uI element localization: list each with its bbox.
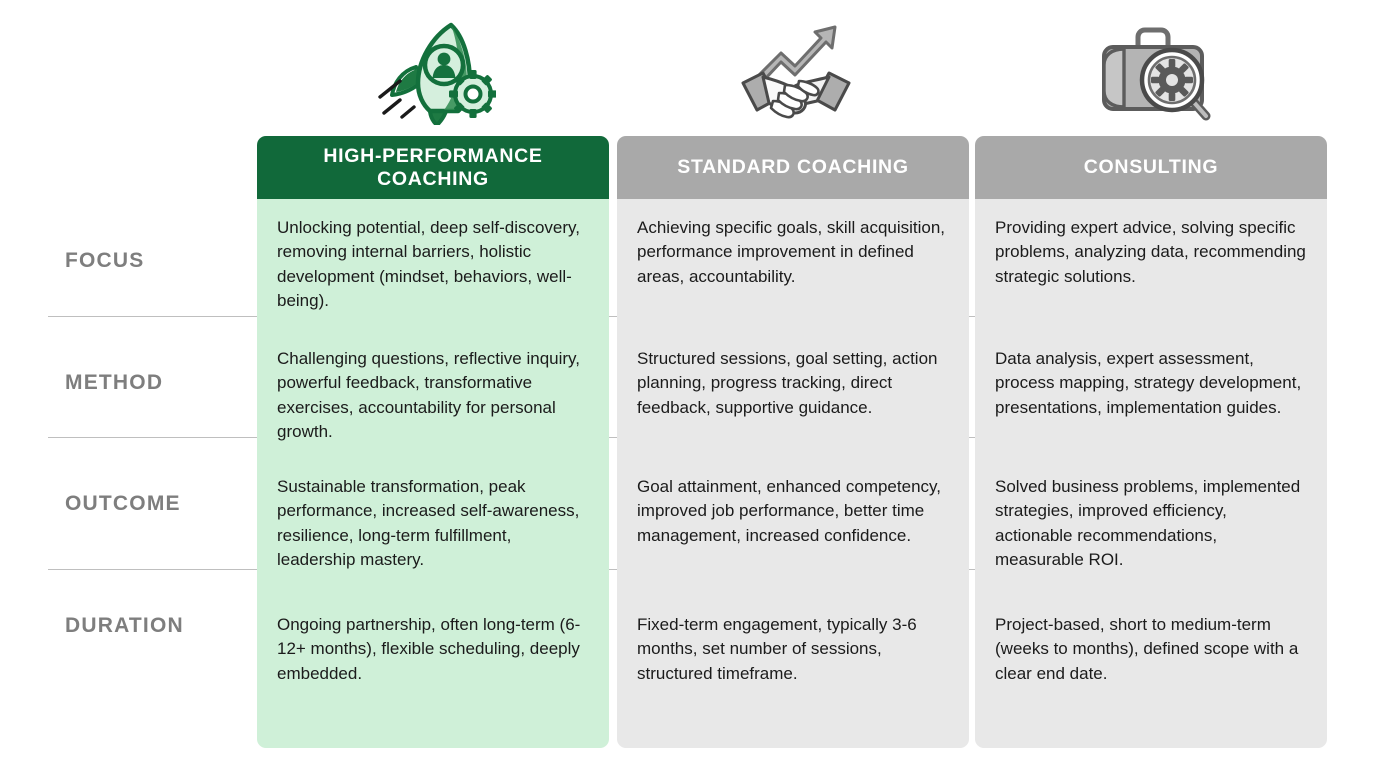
rocket-person-gear-icon: [372, 18, 502, 128]
cell-outcome-consulting: Solved business problems, implemented st…: [975, 458, 1327, 589]
column-header-line-1: HIGH-PERFORMANCE: [323, 145, 542, 167]
cell-outcome-high-performance-coaching: Sustainable transformation, peak perform…: [257, 458, 609, 589]
row-label-focus: FOCUS: [65, 249, 255, 273]
cell-method-standard-coaching: Structured sessions, goal setting, actio…: [617, 330, 969, 458]
column-header-standard-coaching: STANDARD COACHING: [617, 136, 969, 199]
cell-duration-consulting: Project-based, short to medium-term (wee…: [975, 589, 1327, 748]
column-header-line-2: COACHING: [377, 168, 489, 190]
column-consulting: CONSULTING Providing expert advice, solv…: [975, 136, 1327, 748]
column-high-performance-coaching: HIGH-PERFORMANCE COACHING Unlocking pote…: [257, 136, 609, 748]
row-label-method: METHOD: [65, 371, 255, 395]
comparison-table-infographic: FOCUS METHOD OUTCOME DURATION HIGH-PERFO…: [0, 0, 1376, 768]
cell-outcome-standard-coaching: Goal attainment, enhanced competency, im…: [617, 458, 969, 589]
briefcase-magnifier-gear-icon: [1088, 18, 1218, 128]
column-body-high-performance-coaching: Unlocking potential, deep self-discovery…: [257, 199, 609, 748]
column-header-consulting: CONSULTING: [975, 136, 1327, 199]
column-header-high-performance-coaching: HIGH-PERFORMANCE COACHING: [257, 136, 609, 199]
handshake-growth-arrow-icon: [731, 18, 861, 128]
column-standard-coaching: STANDARD COACHING Achieving specific goa…: [617, 136, 969, 748]
cell-method-consulting: Data analysis, expert assessment, proces…: [975, 330, 1327, 458]
cell-method-high-performance-coaching: Challenging questions, reflective inquir…: [257, 330, 609, 458]
column-body-consulting: Providing expert advice, solving specifi…: [975, 199, 1327, 748]
cell-focus-high-performance-coaching: Unlocking potential, deep self-discovery…: [257, 199, 609, 330]
cell-focus-standard-coaching: Achieving specific goals, skill acquisit…: [617, 199, 969, 330]
column-body-standard-coaching: Achieving specific goals, skill acquisit…: [617, 199, 969, 748]
row-label-duration: DURATION: [65, 614, 255, 638]
cell-duration-standard-coaching: Fixed-term engagement, typically 3-6 mon…: [617, 589, 969, 748]
cell-focus-consulting: Providing expert advice, solving specifi…: [975, 199, 1327, 330]
cell-duration-high-performance-coaching: Ongoing partnership, often long-term (6-…: [257, 589, 609, 748]
row-label-outcome: OUTCOME: [65, 492, 255, 516]
